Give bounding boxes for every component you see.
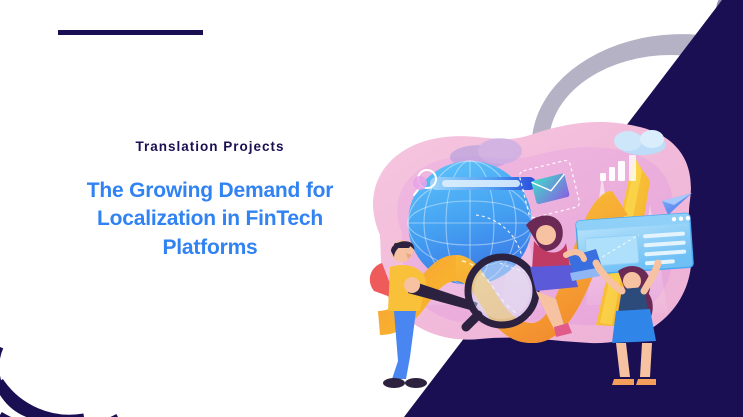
presentation-slide: Translation Projects The Growing Demand …: [0, 0, 743, 417]
text-block: Translation Projects The Growing Demand …: [55, 140, 365, 262]
page-title: The Growing Demand for Localization in F…: [55, 177, 365, 262]
localization-fintech-illustration: [350, 5, 743, 417]
magnifying-glass-icon: [466, 257, 536, 327]
headline-line-2: Localization in FinTech: [97, 207, 323, 230]
headline-line-1: The Growing Demand for: [87, 179, 333, 202]
bottom-left-arcs: [0, 297, 140, 417]
kicker-label: Translation Projects: [55, 140, 365, 155]
headline-line-3: Platforms: [162, 236, 257, 259]
top-left-rule: [58, 30, 203, 35]
